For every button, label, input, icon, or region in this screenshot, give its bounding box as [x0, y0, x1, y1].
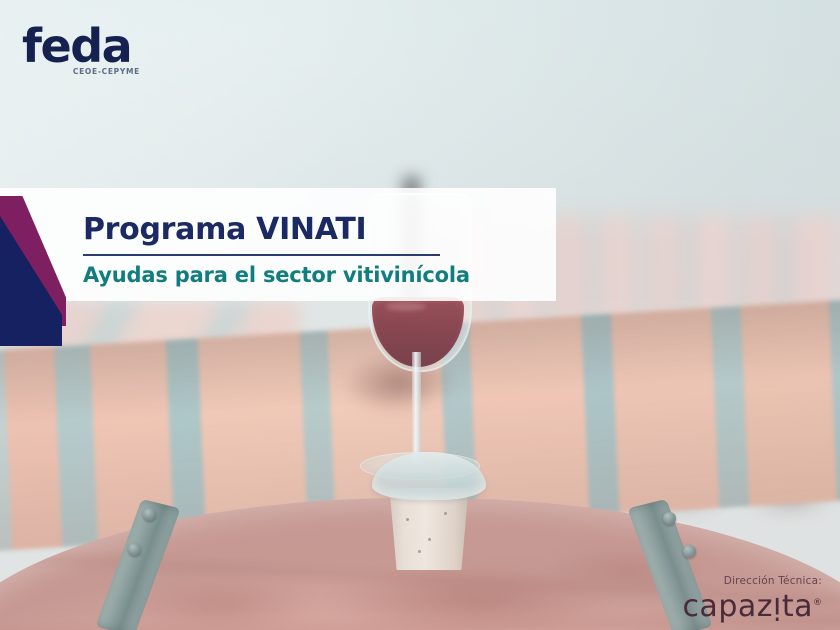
bung-speck: [444, 512, 447, 515]
wine-surface-highlight: [386, 302, 426, 311]
title-block: Programa VINATI Ayudas para el sector vi…: [83, 212, 503, 287]
presentation-slide: feda CEOE-CEPYME Programa VINATI Ayudas …: [0, 0, 840, 630]
title-divider: [83, 254, 440, 256]
credit-label: Dirección Técnica:: [682, 575, 822, 587]
registered-trademark-icon: ®: [813, 598, 822, 608]
wine-glass-stem: [412, 352, 421, 464]
barrel-rivet: [683, 545, 696, 558]
page-subtitle: Ayudas para el sector vitivinícola: [83, 263, 503, 287]
bung-speck: [406, 518, 409, 521]
capazita-logo: capazita®: [682, 588, 822, 622]
feda-logo: feda CEOE-CEPYME: [22, 24, 142, 76]
barrel-rivet: [143, 508, 156, 521]
technical-direction-credit: Dirección Técnica: capazita®: [682, 575, 822, 622]
bung-speck: [418, 550, 421, 553]
page-title: Programa VINATI: [83, 212, 503, 248]
barrel-bung-stopper: [384, 488, 474, 570]
capazita-logo-flipped-i: i: [773, 592, 782, 622]
barrel-rivet: [128, 543, 141, 556]
capazita-logo-part1: capaz: [682, 589, 773, 624]
capazita-logo-part3: ta: [782, 589, 813, 624]
bung-speck: [428, 538, 431, 541]
background-photo: [0, 0, 840, 630]
barrel-rivet: [663, 512, 676, 525]
feda-logo-wordmark: feda: [22, 24, 142, 68]
